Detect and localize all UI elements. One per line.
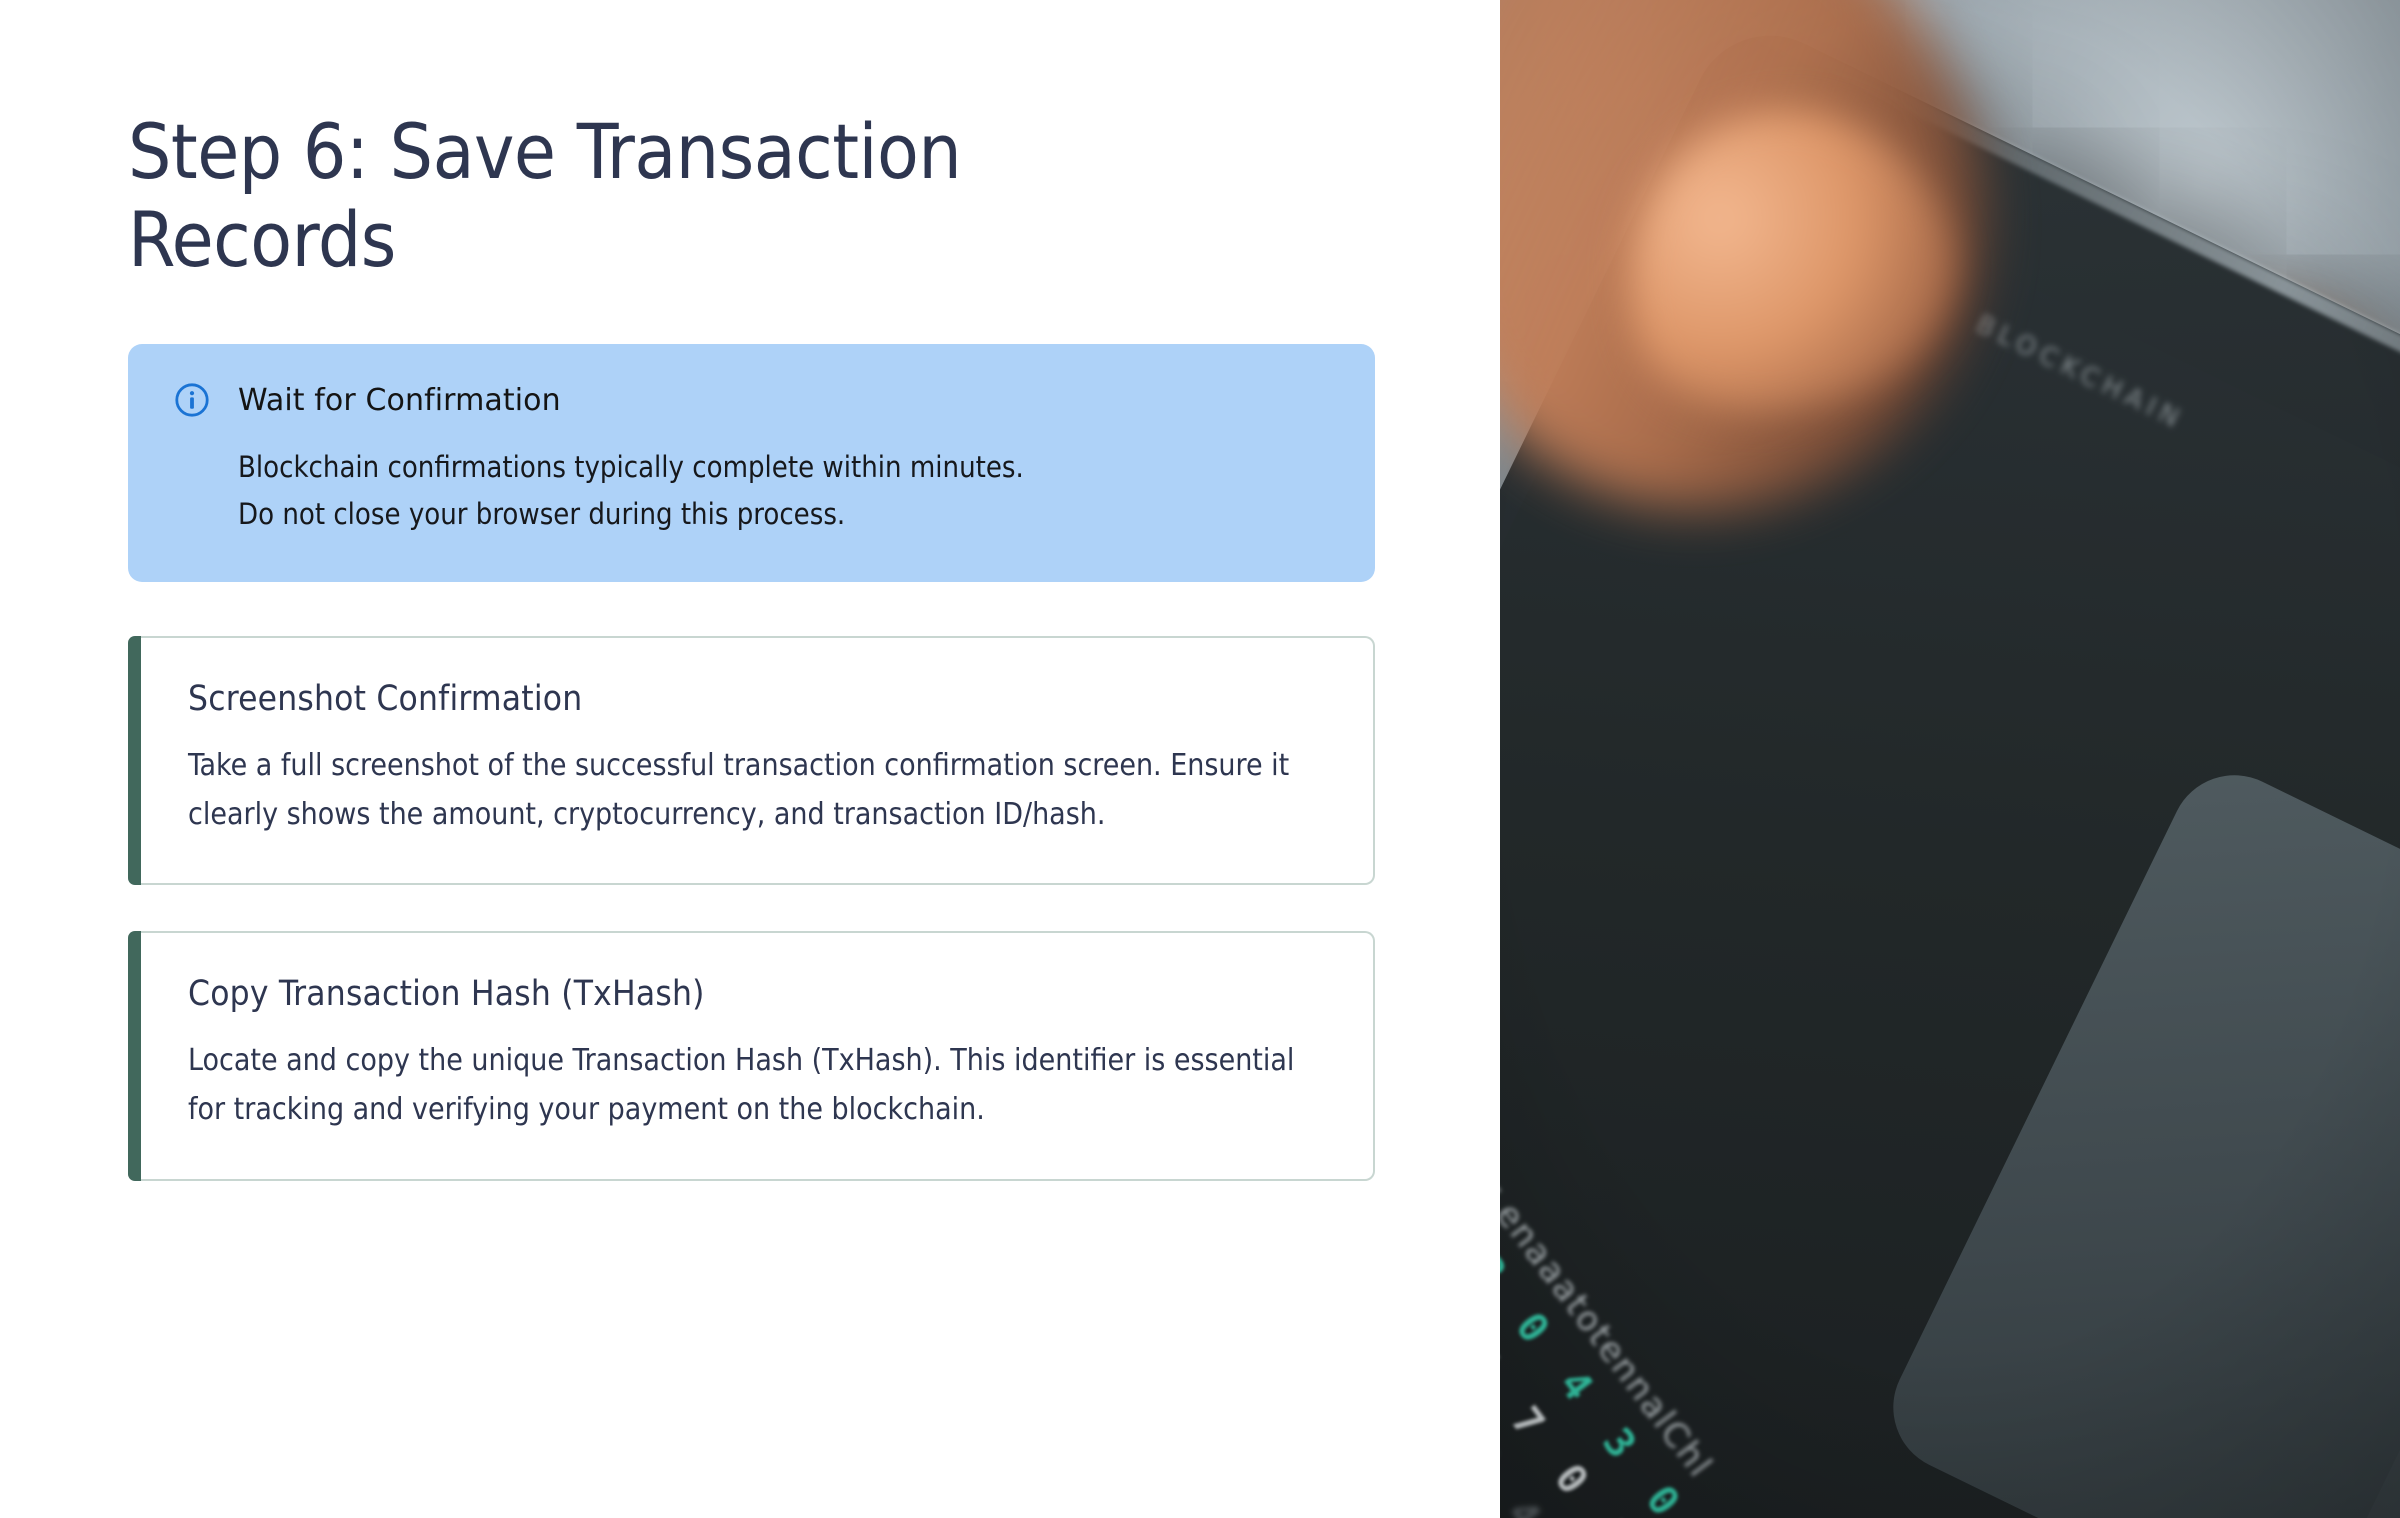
info-callout-body: Blockchain confirmations typically compl… xyxy=(238,444,1298,538)
page-title: Step 6: Save Transaction Records xyxy=(128,108,1148,284)
info-circle-icon xyxy=(174,382,210,418)
card-accent-bar xyxy=(128,931,141,1180)
content-panel: Step 6: Save Transaction Records Wait fo… xyxy=(0,0,1500,1518)
card-body: Take a full screenshot of the successful… xyxy=(188,742,1323,839)
step-card-screenshot-confirmation: Screenshot Confirmation Take a full scre… xyxy=(128,636,1375,885)
step-card-copy-transaction-hash: Copy Transaction Hash (TxHash) Locate an… xyxy=(128,931,1375,1180)
phone-topbar-text: BLOCKCHAIN xyxy=(1971,309,2189,436)
card-title: Screenshot Confirmation xyxy=(188,678,1327,720)
hand-holding-phone-photo: BLOCKCHAIN paa6tHar enaaatotennalChl 2 3… xyxy=(1500,0,2400,1518)
info-callout: Wait for Confirmation Blockchain confirm… xyxy=(128,344,1375,582)
card-accent-bar xyxy=(128,636,141,885)
slide-root: Step 6: Save Transaction Records Wait fo… xyxy=(0,0,2400,1518)
info-callout-title: Wait for Confirmation xyxy=(238,384,561,417)
card-title: Copy Transaction Hash (TxHash) xyxy=(188,973,1327,1015)
card-body: Locate and copy the unique Transaction H… xyxy=(188,1037,1323,1134)
info-callout-header: Wait for Confirmation xyxy=(174,382,1329,418)
